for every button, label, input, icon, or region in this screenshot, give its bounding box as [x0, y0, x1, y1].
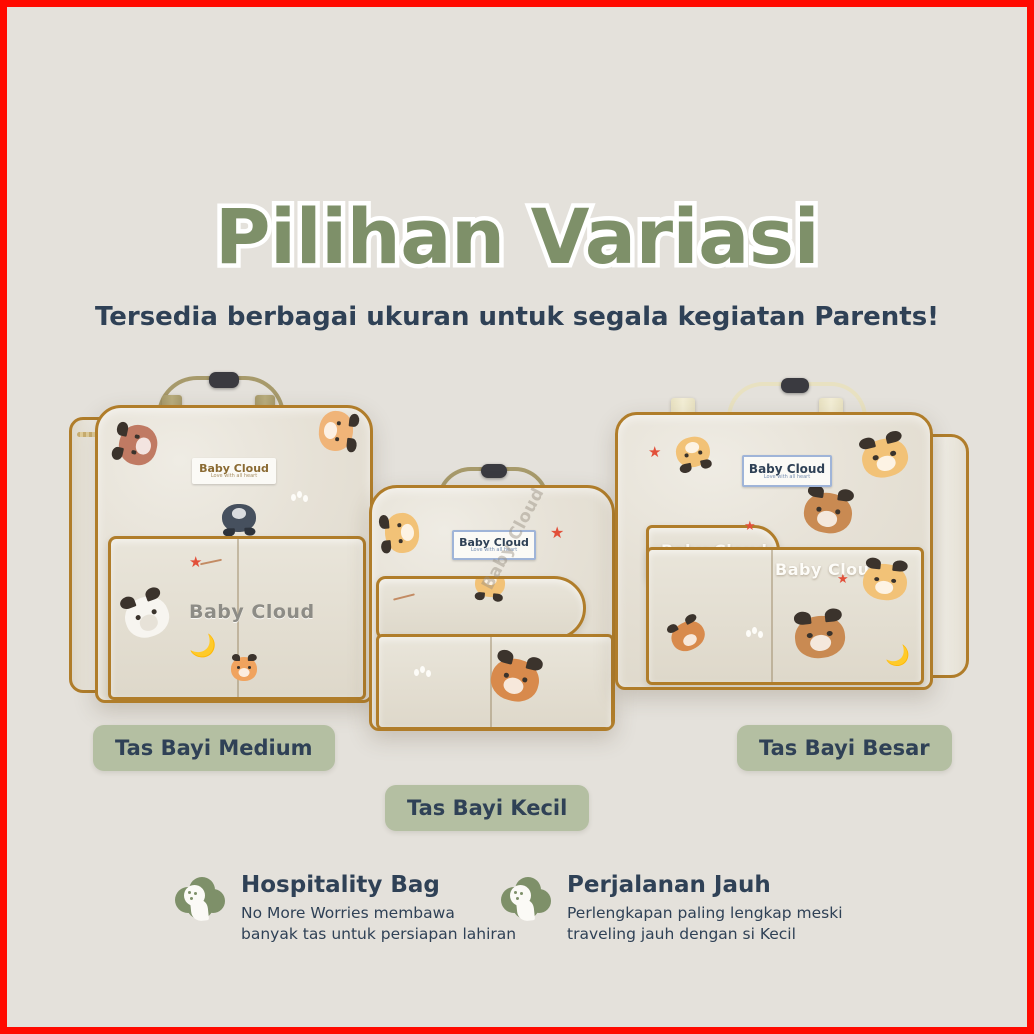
brand-tag-besar: Baby Cloud Love with all heart	[742, 455, 832, 487]
bag-body-medium: Baby Cloud Love with all heart ★	[95, 405, 373, 703]
motif-moon: 🌙	[885, 646, 910, 666]
bag-body-besar: ★	[615, 412, 933, 690]
feature-list: Hospitality Bag No More Worries membawa …	[7, 865, 1027, 975]
product-bag-besar[interactable]: ★	[615, 384, 967, 714]
motif-deer-tan	[673, 434, 712, 470]
brand-tag-medium: Baby Cloud Love with all heart	[192, 458, 276, 484]
motif-bear-brown	[793, 614, 847, 661]
page-subtitle: Tersedia berbagai ukuran untuk segala ke…	[7, 302, 1027, 332]
bag-body-kecil: ★ Baby Cloud Love with all heart	[369, 485, 615, 731]
motif-fox-small	[231, 657, 257, 681]
feature-item-hospitality-bag: Hospitality Bag No More Worries membawa …	[175, 873, 516, 944]
motif-bear-brown	[115, 421, 160, 468]
motif-deer-tan	[858, 434, 912, 482]
motif-star: ★	[550, 526, 564, 542]
brand-tagline: Love with all heart	[764, 475, 810, 480]
feature-title: Hospitality Bag	[241, 873, 516, 898]
motif-bear-brown	[801, 490, 854, 536]
cloud-baby-icon	[501, 877, 553, 925]
pocket-divider-seam	[771, 550, 773, 682]
motif-paw-print	[290, 488, 308, 504]
feature-description: Perlengkapan paling lengkap meski travel…	[567, 903, 843, 944]
motif-fox-brown	[487, 654, 544, 706]
motif-star: ★	[744, 519, 756, 532]
motif-shooting-star: ★	[189, 557, 223, 571]
lower-pocket-kecil	[376, 634, 614, 730]
strap-clasp-besar	[781, 378, 809, 393]
product-label-medium[interactable]: Tas Bayi Medium	[93, 725, 335, 771]
front-pocket-medium: ★ 🌙 Bab	[108, 536, 366, 700]
motif-star: ★	[648, 445, 661, 460]
feature-description: No More Worries membawa banyak tas untuk…	[241, 903, 516, 944]
motif-moon: 🌙	[189, 635, 216, 657]
motif-deer-tan	[317, 409, 355, 452]
product-bag-kecil[interactable]: ★ Baby Cloud Love with all heart	[359, 467, 619, 729]
product-bag-medium[interactable]: Baby Cloud Love with all heart ★	[69, 377, 369, 722]
poster-canvas: Pilihan Variasi Tersedia berbagai ukuran…	[7, 7, 1027, 1027]
motif-paw-print	[413, 663, 431, 679]
motif-deer-tan	[383, 512, 420, 555]
motif-deer-tan	[861, 562, 909, 602]
feature-title: Perjalanan Jauh	[567, 873, 843, 898]
product-showcase: Baby Cloud Love with all heart ★	[7, 362, 1027, 792]
cloud-baby-icon	[175, 877, 227, 925]
motif-paw-print	[745, 624, 763, 640]
motif-sheep-white	[119, 591, 174, 644]
motif-shooting-star	[393, 593, 421, 605]
motif-star: ★	[837, 572, 849, 585]
strap-clasp-medium	[209, 372, 239, 388]
motif-raccoon-dark	[222, 503, 257, 532]
product-label-kecil[interactable]: Tas Bayi Kecil	[385, 785, 589, 831]
lower-pocket-besar: Baby Cloud ★	[646, 547, 924, 685]
page-title: Pilihan Variasi	[7, 192, 1027, 281]
motif-fox-small	[666, 616, 709, 657]
feature-item-perjalanan-jauh: Perjalanan Jauh Perlengkapan paling leng…	[501, 873, 843, 944]
bag-wordmark-medium: Baby Cloud	[189, 601, 315, 623]
product-label-besar[interactable]: Tas Bayi Besar	[737, 725, 952, 771]
brand-tagline: Love with all heart	[211, 474, 257, 479]
strap-clasp-kecil	[481, 464, 507, 478]
